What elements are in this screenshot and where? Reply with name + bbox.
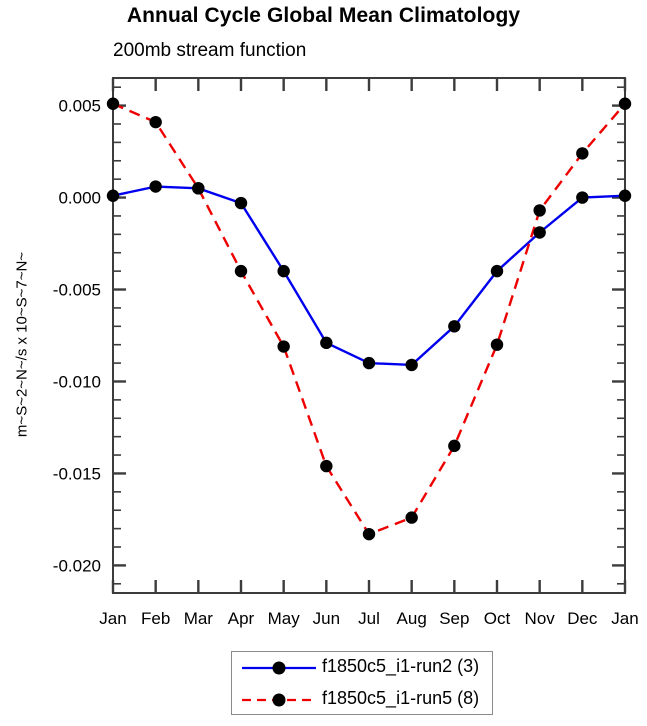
series-line (113, 104, 625, 534)
data-point-marker (619, 190, 631, 202)
data-point-marker (107, 98, 119, 110)
legend-swatch-run5 (240, 684, 318, 716)
data-point-marker (491, 338, 503, 350)
x-tick-label: May (268, 609, 301, 628)
data-point-marker (320, 460, 332, 472)
x-axis-tick-labels: JanFebMarAprMayJunJulAugSepOctNovDecJan (99, 609, 638, 628)
legend-swatch-run2 (240, 652, 318, 684)
data-point-marker (405, 359, 417, 371)
x-tick-label: Oct (484, 609, 511, 628)
x-tick-label: Dec (567, 609, 598, 628)
data-point-marker (533, 204, 545, 216)
data-point-marker (363, 357, 375, 369)
y-tick-label: -0.010 (53, 372, 101, 391)
data-point-marker (235, 265, 247, 277)
legend-item-run5: f1850c5_i1-run5 (8) (232, 684, 494, 716)
legend: f1850c5_i1-run2 (3) f1850c5_i1-run5 (8) (231, 651, 493, 715)
data-point-marker (277, 340, 289, 352)
data-series (107, 98, 631, 541)
legend-label-run2: f1850c5_i1-run2 (3) (322, 656, 479, 677)
data-point-marker (576, 147, 588, 159)
x-tick-label: Jun (313, 609, 340, 628)
x-tick-label: Apr (228, 609, 255, 628)
y-tick-label: 0.000 (58, 189, 101, 208)
x-tick-label: Aug (397, 609, 427, 628)
y-tick-label: 0.005 (58, 97, 101, 116)
data-point-marker (149, 116, 161, 128)
series-line (113, 187, 625, 365)
x-tick-label: Jul (358, 609, 380, 628)
data-point-marker (107, 190, 119, 202)
climatology-chart: Annual Cycle Global Mean Climatology 200… (0, 0, 647, 726)
y-tick-label: -0.020 (53, 556, 101, 575)
y-tick-label: -0.015 (53, 464, 101, 483)
data-point-marker (192, 182, 204, 194)
y-axis-tick-labels: 0.0050.000-0.005-0.010-0.015-0.020 (53, 97, 101, 576)
x-tick-label: Jan (99, 609, 126, 628)
legend-label-run5: f1850c5_i1-run5 (8) (322, 688, 479, 709)
data-point-marker (576, 191, 588, 203)
x-tick-label: Sep (439, 609, 469, 628)
legend-item-run2: f1850c5_i1-run2 (3) (232, 652, 494, 684)
x-tick-label: Feb (141, 609, 170, 628)
data-point-marker (619, 98, 631, 110)
data-point-marker (491, 265, 503, 277)
data-point-marker (277, 265, 289, 277)
data-point-marker (363, 528, 375, 540)
data-point-marker (320, 337, 332, 349)
data-point-marker (533, 226, 545, 238)
data-point-marker (448, 320, 460, 332)
data-point-marker (448, 440, 460, 452)
x-tick-label: Nov (525, 609, 556, 628)
y-tick-label: -0.005 (53, 281, 101, 300)
data-point-marker (235, 197, 247, 209)
plot-area: JanFebMarAprMayJunJulAugSepOctNovDecJan … (0, 0, 647, 726)
axes (113, 78, 625, 593)
x-tick-label: Mar (184, 609, 214, 628)
x-tick-label: Jan (611, 609, 638, 628)
data-point-marker (149, 180, 161, 192)
data-point-marker (405, 511, 417, 523)
